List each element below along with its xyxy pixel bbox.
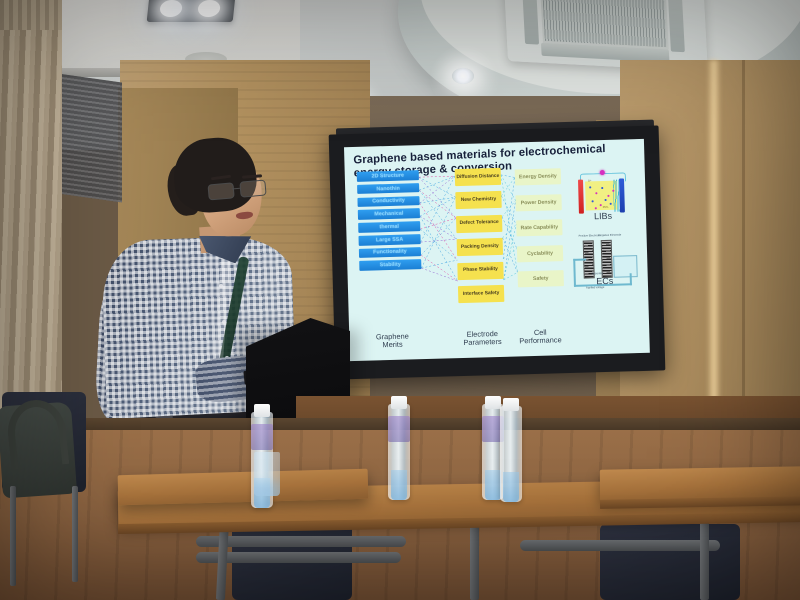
bottle-cap (391, 396, 407, 409)
glasses-lens-left (207, 182, 234, 200)
twin-spotlight-fixture (147, 0, 236, 22)
projector-screen: Graphene based materials for electrochem… (329, 125, 666, 379)
bottle-label (251, 424, 273, 450)
merit-item: Conductivity (357, 196, 419, 207)
table-rail (520, 540, 720, 551)
merit-item: Mechanical (358, 208, 420, 219)
parameter-item: Interface Safety (458, 285, 504, 303)
lib-load-indicator (600, 170, 605, 175)
chair-leg (72, 486, 78, 582)
ecs-diagram: Positive Electrode Negative Electrode Se… (568, 231, 640, 295)
performance-item: Cyclability (517, 245, 563, 262)
performance-item: Rate Capability (516, 219, 562, 236)
ion (595, 207, 597, 209)
merit-item: Nanothin (357, 183, 419, 194)
light-bulb (197, 0, 221, 17)
presentation-slide: Graphene based materials for electrochem… (344, 139, 650, 361)
ac-grille (539, 0, 668, 49)
parameter-item: Packing Density (457, 238, 503, 256)
table-leg (700, 512, 709, 600)
curtain-rail (0, 0, 62, 30)
bottle-label (388, 416, 410, 442)
cell-performance-column: Energy Density Power Density Rate Capabi… (515, 168, 564, 287)
parameter-item: Phase Stability (457, 261, 503, 279)
lib-caption: LIBs (570, 210, 636, 222)
presentation-photo: Graphene based materials for electrochem… (0, 0, 800, 600)
chair-back (600, 524, 740, 600)
column-label-electrode-parameters: Electrode Parameters (453, 330, 511, 348)
glasses-lens-right (239, 180, 266, 198)
ac-vent-left (521, 0, 539, 45)
bottle-cap (485, 396, 501, 409)
lib-cathode (619, 178, 625, 212)
column-label-cell-performance: Cell Performance (511, 328, 569, 346)
ec-label-separator: Separator (592, 272, 604, 275)
performance-item: Safety (518, 270, 564, 287)
ion (595, 192, 597, 194)
downlight (452, 68, 474, 84)
column-label-graphene-merits: Graphene Merits (363, 332, 421, 350)
ac-vent-right (667, 0, 685, 52)
parameter-item: New Chemistry (455, 191, 501, 209)
ion (612, 190, 614, 192)
shirt-button (222, 320, 226, 324)
glasses-bridge (232, 188, 240, 190)
merit-item: Stability (359, 260, 421, 271)
lib-anode (578, 180, 584, 214)
ion (605, 199, 607, 201)
ion (610, 203, 612, 205)
lib-diagram: Li+ PF6- LIBs (569, 169, 636, 223)
bottle-cap (503, 398, 519, 411)
ion (589, 186, 591, 188)
ion-label: Li+ (588, 179, 592, 182)
merit-item: Functionality (359, 247, 421, 258)
electrode-parameters-column: Diffusion Distance New Chemistry Defect … (455, 168, 505, 303)
parameter-item: Diffusion Distance (455, 168, 501, 186)
bottle-cap (254, 404, 270, 417)
graphene-merits-column: 2D Structure Nanothin Conductivity Mecha… (357, 170, 422, 271)
ec-label-negative: Negative Electrode (599, 234, 622, 238)
ec-label-positive: Positive Electrode (579, 234, 601, 238)
light-bulb (159, 0, 183, 17)
drinking-glass (254, 452, 280, 496)
shirt-button (219, 284, 223, 288)
ion (600, 204, 602, 206)
ion (601, 187, 603, 189)
parameter-item: Defect Tolerance (456, 215, 502, 233)
ecs-caption: ECs (570, 275, 640, 287)
merit-item: thermal (358, 221, 420, 232)
ion-label: PF6- (603, 206, 609, 209)
merit-item: 2D Structure (357, 170, 419, 181)
ion (607, 195, 609, 197)
performance-item: Power Density (515, 194, 561, 211)
ion (592, 200, 594, 202)
ec-label-voltage: Applied voltage (586, 286, 604, 290)
performance-item: Energy Density (515, 168, 561, 185)
water-bottle (500, 406, 522, 502)
merit-item: Large SSA (358, 234, 420, 245)
chair-leg (10, 486, 16, 586)
